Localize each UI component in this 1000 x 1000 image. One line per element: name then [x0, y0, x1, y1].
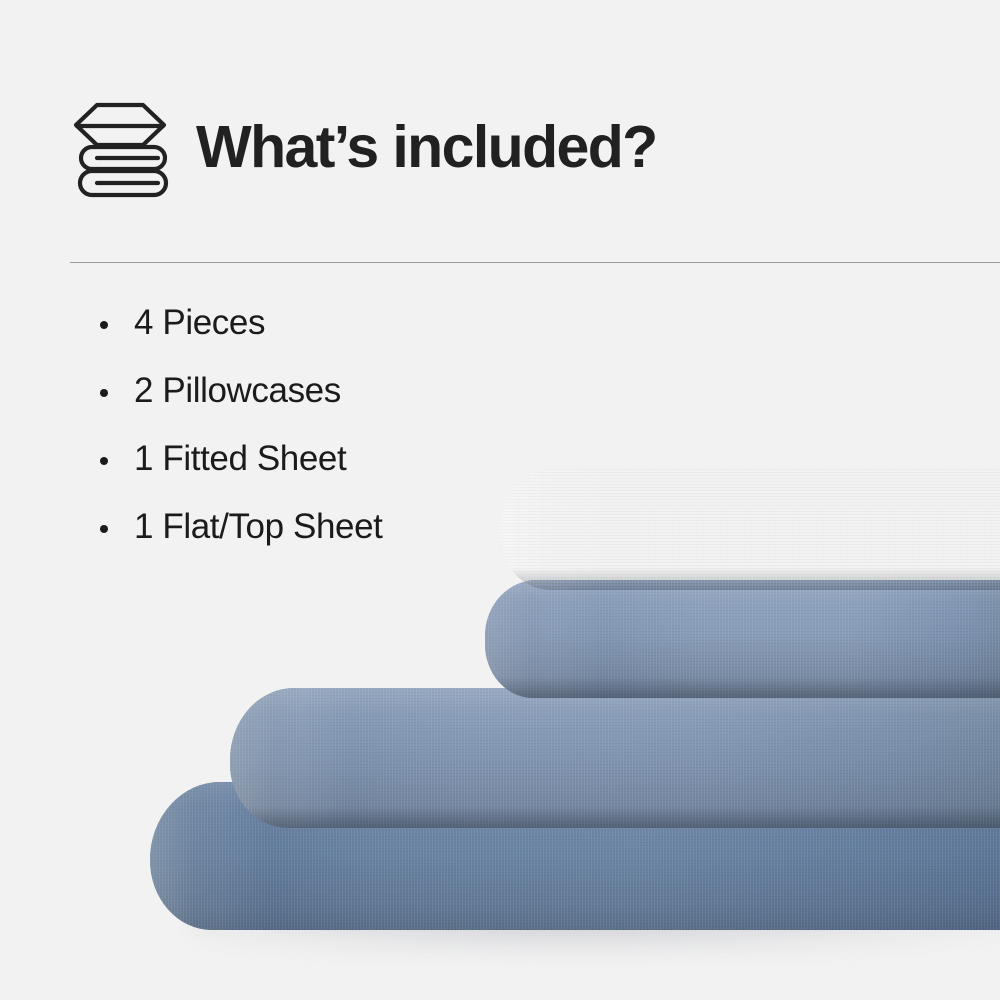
- bullet-dot-icon: [100, 525, 108, 533]
- list-item-label: 4 Pieces: [134, 303, 265, 342]
- infographic-canvas: What’s included? 4 Pieces 2 Pillowcases …: [0, 0, 1000, 1000]
- bullet-dot-icon: [100, 321, 108, 329]
- fabric-surface: [485, 580, 1000, 698]
- folded-flat-sheet: [230, 688, 1000, 828]
- list-item-label: 1 Fitted Sheet: [134, 439, 346, 478]
- list-item-label: 1 Flat/Top Sheet: [134, 507, 382, 546]
- fabric-surface: [230, 688, 1000, 828]
- fabric-surface: [500, 468, 1000, 590]
- folded-linens-stack-icon: [70, 99, 170, 203]
- header: What’s included?: [70, 96, 930, 206]
- folded-pillowcase-top: [500, 468, 1000, 590]
- page-title: What’s included?: [196, 117, 657, 185]
- list-item: 2 Pillowcases: [96, 368, 382, 414]
- list-item: 4 Pieces: [96, 300, 382, 346]
- folded-pillowcase-second: [485, 580, 1000, 698]
- included-items-list: 4 Pieces 2 Pillowcases 1 Fitted Sheet 1 …: [96, 300, 382, 572]
- list-item: 1 Flat/Top Sheet: [96, 504, 382, 550]
- section-divider: [70, 262, 1000, 263]
- list-item-label: 2 Pillowcases: [134, 371, 341, 410]
- bullet-dot-icon: [100, 389, 108, 397]
- list-item: 1 Fitted Sheet: [96, 436, 382, 482]
- bullet-dot-icon: [100, 457, 108, 465]
